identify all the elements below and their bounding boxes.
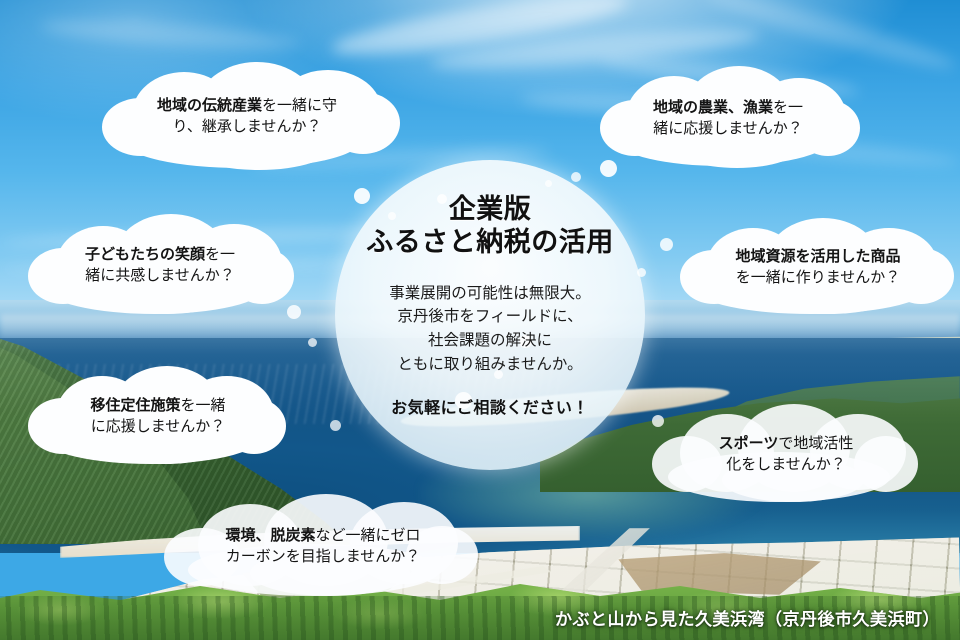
center-body-line1: 事業展開の可能性は無限大。 [389,282,591,306]
bubble-line2: 緒に応援しませんか？ [653,118,803,139]
bubble-rest: を一緒に守 [262,96,337,114]
center-body: 事業展開の可能性は無限大。 京丹後市をフィールドに、 社会課題の解決に ともに取… [389,282,591,376]
bubble-line2: 緒に共感しませんか？ [85,265,235,286]
bubble-line2: り、継承しませんか？ [173,116,322,137]
bubble-line1: スポーツで地域活性 [719,433,854,454]
center-body-line2: 京丹後市をフィールドに、 [389,305,591,329]
decor-dot [308,338,317,347]
bubble-line2: カーボンを目指しませんか？ [226,546,421,567]
bubble-text: 子どもたちの笑顔を一 緒に共感しませんか？ [22,214,298,316]
bubble-bold: 移住定住施策 [90,396,180,414]
decor-dot [660,238,673,251]
bubble-line1: 子どもたちの笑顔を一 [85,244,235,265]
bubble-rest: を一緒 [181,396,226,414]
bubble-line2: 化をしませんか？ [726,454,846,475]
bubble-line1: 地域の農業、漁業を一 [653,97,803,118]
bubble-sports-revitalization: スポーツで地域活性 化をしませんか？ [648,404,924,504]
photo-caption: かぶと山から見た久美浜湾（京丹後市久美浜町） [555,605,940,630]
bubble-bold: 地域の農業、漁業 [653,98,773,116]
bubble-bold: 子どもたちの笑顔 [85,245,205,263]
bubble-line2: に応援しませんか？ [91,416,226,437]
center-title-line2: ふるさと納税の活用 [366,227,614,260]
bubble-text: 地域の伝統産業を一緒に守 り、継承しませんか？ [88,62,406,170]
bubble-line1: 地域資源を活用した商品 [735,246,900,267]
cirrus-cloud-wisp [40,15,301,55]
bubble-text: 移住定住施策を一緒 に応援しませんか？ [24,366,292,466]
center-title: 企業版 ふるさと納税の活用 [366,194,614,260]
bubble-bold: 地域の伝統産業 [157,96,262,114]
bubble-text: 地域の農業、漁業を一 緒に応援しませんか？ [592,66,864,170]
bubble-children-smile: 子どもたちの笑顔を一 緒に共感しませんか？ [22,214,298,316]
center-body-line3: 社会課題の解決に [389,329,591,353]
bubble-agriculture-fishery: 地域の農業、漁業を一 緒に応援しませんか？ [592,66,864,170]
center-body-line4: ともに取り組みませんか。 [389,353,591,377]
bubble-local-resources-products: 地域資源を活用した商品 を一緒に作りませんか？ [676,218,960,316]
bubble-zero-carbon: 環境、脱炭素など一緒にゼロ カーボンを目指しませんか？ [158,494,488,598]
bubble-traditional-industry: 地域の伝統産業を一緒に守 り、継承しませんか？ [88,62,406,170]
bubble-line1: 地域の伝統産業を一緒に守 [157,95,337,116]
bubble-rest: を一 [205,245,235,263]
bubble-rest: を一 [773,98,803,116]
bubble-bold: 環境、脱炭素 [225,526,315,544]
bubble-line2: を一緒に作りませんか？ [736,267,901,288]
bubble-migration-settlement: 移住定住施策を一緒 に応援しませんか？ [24,366,292,466]
bubble-text: 環境、脱炭素など一緒にゼロ カーボンを目指しませんか？ [158,494,488,598]
poster-canvas: 企業版 ふるさと納税の活用 事業展開の可能性は無限大。 京丹後市をフィールドに、… [0,0,960,640]
center-message: 企業版 ふるさと納税の活用 事業展開の可能性は無限大。 京丹後市をフィールドに、… [335,160,645,470]
center-cta: お気軽にご相談ください！ [391,394,589,418]
bubble-line1: 環境、脱炭素など一緒にゼロ [225,525,420,546]
bubble-rest: など一緒にゼロ [316,526,421,544]
bubble-text: 地域資源を活用した商品 を一緒に作りませんか？ [676,218,960,316]
bubble-line1: 移住定住施策を一緒 [90,395,225,416]
center-title-line1: 企業版 [366,194,614,227]
bubble-text: スポーツで地域活性 化をしませんか？ [648,404,924,504]
bubble-rest: で地域活性 [778,434,853,452]
bubble-bold: 地域資源を活用した商品 [735,247,900,265]
bubble-bold: スポーツ [719,434,779,452]
